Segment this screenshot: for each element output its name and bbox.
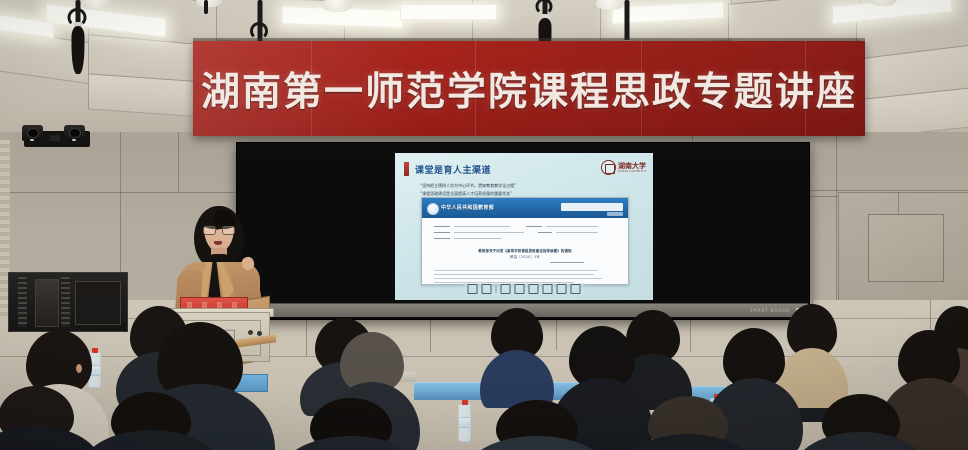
banner-title: 湖南第一师范学院课程思政专题讲座 [193,61,865,117]
audience-member [286,398,416,450]
slide-bullet: “坚持把立德树人作为中心环节，贯穿教育教学全过程” [420,183,516,189]
slide-accent-bar [404,162,409,176]
document-body: 教育部关于印发《高等学校课程思政建设指导纲要》的通知 教高〔2020〕3号 [422,218,628,284]
audience-member [0,386,96,450]
menu-icon[interactable] [571,284,581,294]
audience-shoulders [82,430,220,450]
embedded-website-screenshot: 中华人民共和国教育部 教育部关于印发《高等学校课程思政建设指导纲要》的通知 [421,197,629,285]
presentation-slide: 课堂是育人主渠道 湖南大学 HUNAN UNIVERSITY “坚持把立德树人作… [395,153,653,300]
interactive-display[interactable]: 课堂是育人主渠道 湖南大学 HUNAN UNIVERSITY “坚持把立德树人作… [236,142,810,320]
pointer-icon[interactable] [501,284,511,294]
audience-member [798,394,924,450]
pen-icon[interactable] [515,284,525,294]
university-seal-icon [601,160,616,175]
slide-title: 课堂是育人主渠道 [415,163,491,176]
government-emblem-icon [427,203,439,215]
hanging-hook-fixture [62,2,92,42]
event-banner: 湖南第一师范学院课程思政专题讲座 [193,41,865,136]
audience-member [480,308,554,404]
presenter-mouth [214,241,222,245]
audience-shoulders [281,436,421,450]
presentation-toolbar[interactable] [464,283,585,295]
audience-member [624,396,752,450]
glasses-icon [222,226,235,235]
website-header: 中华人民共和国教育部 [422,198,628,218]
eraser-icon[interactable] [543,284,553,294]
logo-name: 湖南大学 [618,163,647,170]
screen-icon[interactable] [557,284,567,294]
website-title: 中华人民共和国教育部 [441,204,494,211]
website-search-input[interactable] [561,203,623,211]
audience-shoulders [467,436,607,450]
audience-member [472,400,602,450]
document-heading: 教育部关于印发《高等学校课程思政建设指导纲要》的通知 [422,248,628,253]
hanging-speaker-fixture [196,0,216,18]
university-logo: 湖南大学 HUNAN UNIVERSITY [601,160,645,175]
water-bottle [458,404,471,442]
glasses-icon [203,226,216,235]
highlighter-icon[interactable] [529,284,539,294]
hanging-hook-fixture [529,0,559,28]
av-equipment-rack [8,272,128,332]
audience-shoulders [620,434,756,450]
slides-icon[interactable] [482,284,492,294]
audience-shoulders [794,432,928,450]
audience-member [86,392,216,450]
ceiling-panel-light [400,4,497,20]
bottle-cap [462,400,468,405]
lecture-hall-photo: 湖南第一师范学院课程思政专题讲座 课堂是育人主渠道 湖南大学 HUNAN UNI… [0,0,968,450]
website-search-button[interactable] [607,212,623,216]
logo-subtitle: HUNAN UNIVERSITY [618,170,647,173]
dome-light [322,0,352,12]
access-panel [868,214,944,282]
document-subheading: 教高〔2020〕3号 [422,254,628,259]
print-icon[interactable] [468,284,478,294]
